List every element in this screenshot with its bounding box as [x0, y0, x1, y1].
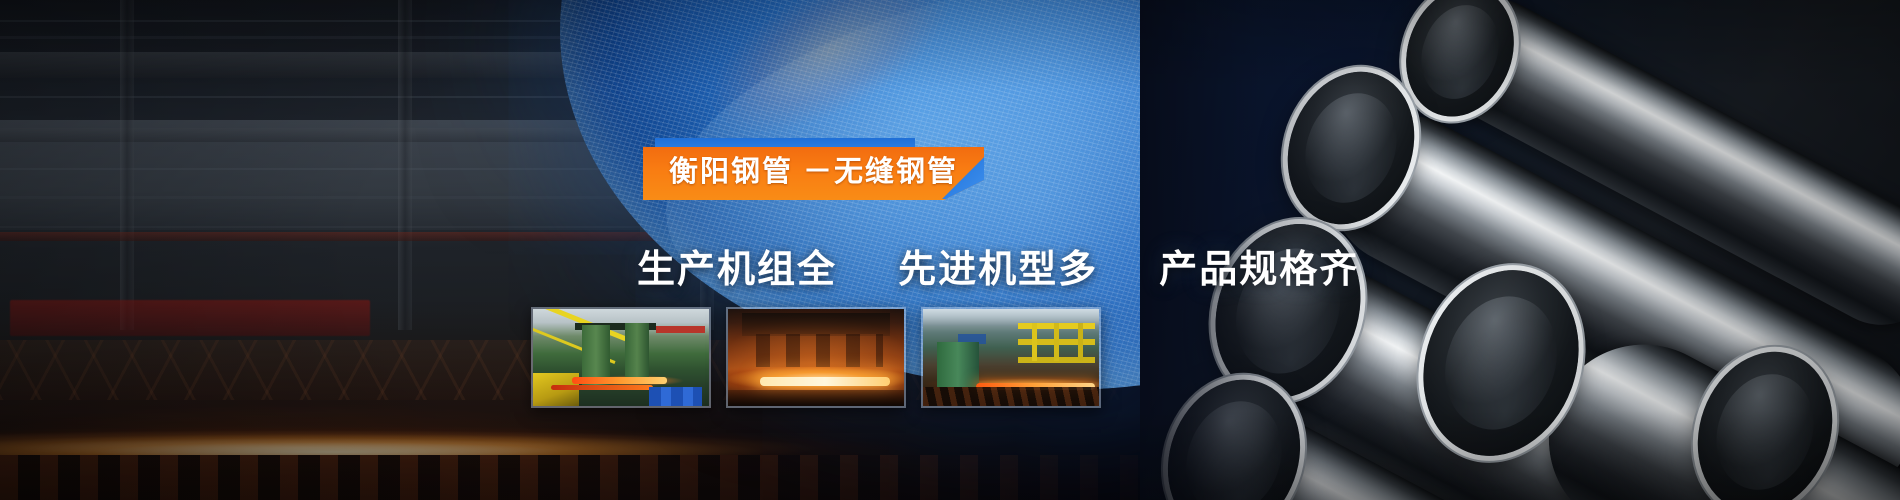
banner-content: 衡阳钢管 －无缝钢管 生产机组全 先进机型多 产品规格齐	[0, 0, 1900, 500]
thumbnail-strip	[531, 307, 1101, 408]
promo-banner[interactable]: 衡阳钢管 －无缝钢管 生产机组全 先进机型多 产品规格齐	[0, 0, 1900, 500]
badge-label: 衡阳钢管 －无缝钢管	[669, 156, 958, 188]
headline-part-1: 生产机组全	[637, 249, 837, 291]
headline-part-3: 产品规格齐	[1159, 249, 1359, 291]
headline-part-2: 先进机型多	[898, 249, 1098, 291]
thumbnail-rolling-mill-green-machinery[interactable]	[531, 307, 711, 408]
thumbnail-factory-hall-hot-pipe[interactable]	[921, 307, 1101, 408]
thumbnail-hot-rolling-glowing-billet[interactable]	[726, 307, 906, 408]
headline: 生产机组全 先进机型多 产品规格齐	[637, 238, 1359, 293]
brand-badge[interactable]: 衡阳钢管 －无缝钢管	[643, 138, 984, 200]
badge-orange-plate[interactable]: 衡阳钢管 －无缝钢管	[643, 147, 984, 200]
